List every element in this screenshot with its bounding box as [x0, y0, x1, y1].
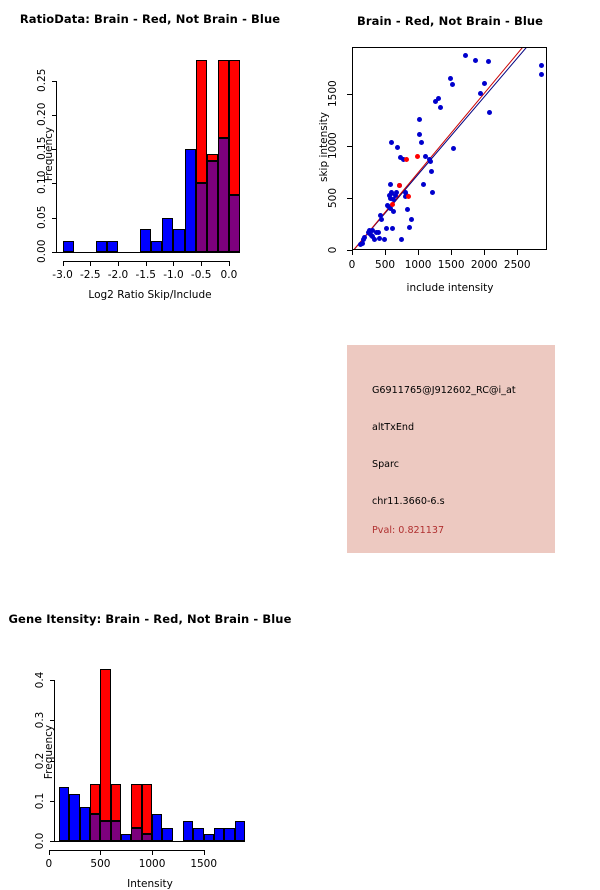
- y-axis-tick-label: 0.20: [35, 104, 49, 126]
- scatter-point-blue: [463, 53, 468, 58]
- scatter-point-blue: [384, 226, 389, 231]
- histogram-bar-blue: [162, 828, 172, 841]
- scatter-point-blue: [539, 72, 544, 77]
- gene-info-probe-id: G6911765@J912602_RC@i_at: [372, 385, 516, 396]
- x-axis-tick-label: 1500: [190, 858, 217, 870]
- x-axis-tick: [204, 850, 205, 855]
- x-axis-tick-label: 0: [349, 259, 356, 271]
- scatter-point-blue: [487, 110, 492, 115]
- scatter-point-blue: [438, 105, 443, 110]
- intensity-scatter-title: Brain - Red, Not Brain - Blue: [300, 14, 600, 28]
- scatter-clip: [353, 48, 546, 249]
- x-axis-tick: [517, 250, 518, 255]
- scatter-point-blue: [482, 81, 487, 86]
- x-axis-tick: [484, 250, 485, 255]
- x-axis-tick-label: 2500: [504, 259, 531, 271]
- y-axis-tick-label: 0.25: [35, 70, 49, 92]
- scatter-point-blue: [405, 207, 410, 212]
- scatter-point-red: [397, 183, 402, 188]
- scatter-point-red: [404, 157, 409, 162]
- scatter-point-blue: [382, 237, 387, 242]
- intensity-scatter-plot-area: [352, 47, 547, 250]
- x-axis-tick-label: 0.0: [221, 269, 238, 281]
- intensity-scatter-x-axis-label: include intensity: [300, 282, 600, 294]
- scatter-point-blue: [388, 182, 393, 187]
- histogram-bar-overlap: [196, 183, 207, 252]
- y-axis-tick-label: 0.3: [33, 709, 47, 731]
- histogram-bar-blue: [224, 828, 234, 841]
- x-axis-tick: [418, 250, 419, 255]
- scatter-point-blue: [417, 132, 422, 137]
- histogram-bar-overlap: [111, 821, 121, 841]
- histogram-bar-blue: [151, 241, 162, 252]
- x-axis-tick-label: 500: [375, 259, 395, 271]
- x-axis-tick: [173, 261, 174, 266]
- gene-intensity-histogram-x-axis-label: Intensity: [0, 878, 300, 890]
- scatter-point-blue: [372, 237, 377, 242]
- y-axis-tick: [50, 801, 55, 802]
- gene-info-pval: Pval: 0.821137: [372, 525, 444, 536]
- histogram-bar-blue: [152, 814, 162, 841]
- histogram-bar-overlap: [207, 161, 218, 252]
- x-axis-tick: [90, 261, 91, 266]
- scatter-point-blue: [395, 145, 400, 150]
- histogram-bar-blue: [185, 149, 196, 252]
- x-axis-tick-label: 2000: [471, 259, 498, 271]
- histogram-bar-blue: [204, 834, 214, 841]
- x-axis-tick-label: -3.0: [52, 269, 73, 281]
- y-axis-tick-label: 0.0: [33, 830, 47, 852]
- scatter-point-blue: [389, 140, 394, 145]
- histogram-bar-overlap: [142, 834, 152, 841]
- scatter-point-blue: [539, 63, 544, 68]
- scatter-point-blue: [407, 225, 412, 230]
- histogram-bar-blue: [140, 229, 151, 252]
- histogram-bar-overlap: [100, 821, 110, 841]
- scatter-point-blue: [430, 190, 435, 195]
- histogram-bar-blue: [173, 229, 184, 252]
- x-axis-tick: [385, 250, 386, 255]
- plot-baseline: [57, 252, 240, 253]
- y-axis-tick: [52, 115, 57, 116]
- scatter-point-blue: [391, 209, 396, 214]
- x-axis-tick-label: 1500: [438, 259, 465, 271]
- x-axis-tick: [352, 250, 353, 255]
- histogram-bar-red: [196, 60, 207, 183]
- histogram-bar-blue: [96, 241, 107, 252]
- x-axis-line: [49, 850, 204, 851]
- x-axis-tick: [152, 850, 153, 855]
- histogram-bar-overlap: [90, 814, 100, 841]
- panel-ratio-histogram: RatioData: Brain - Red, Not Brain - Blue…: [0, 0, 300, 300]
- y-axis-tick-label: 1000: [326, 133, 340, 159]
- x-axis-tick-label: -2.5: [80, 269, 101, 281]
- x-axis-tick-label: 500: [90, 858, 110, 870]
- x-axis-tick: [100, 850, 101, 855]
- scatter-point-blue: [450, 82, 455, 87]
- scatter-point-blue: [362, 235, 367, 240]
- x-axis-tick-label: -1.5: [135, 269, 156, 281]
- y-axis-tick-label: 500: [326, 185, 340, 211]
- panel-gene-intensity-histogram: Gene Itensity: Brain - Red, Not Brain - …: [0, 300, 300, 600]
- panel-intensity-scatter: Brain - Red, Not Brain - Blue skip inten…: [300, 0, 600, 300]
- scatter-point-blue: [428, 159, 433, 164]
- scatter-point-blue: [419, 140, 424, 145]
- x-axis-tick-label: 1000: [405, 259, 432, 271]
- histogram-bar-blue: [121, 834, 131, 841]
- gene-info-panel: G6911765@J912602_RC@i_at altTxEnd Sparc …: [347, 345, 555, 553]
- y-axis-tick-label: 0: [326, 237, 340, 263]
- y-axis-tick-label: 0.1: [33, 790, 47, 812]
- x-axis-tick: [229, 261, 230, 266]
- gene-intensity-histogram-plot-area: [55, 666, 245, 841]
- x-axis-tick-label: -0.5: [191, 269, 212, 281]
- y-axis-tick: [347, 198, 352, 199]
- scatter-point-blue: [486, 59, 491, 64]
- histogram-bar-blue: [59, 787, 69, 841]
- histogram-bar-red: [90, 784, 100, 815]
- scatter-point-blue: [451, 146, 456, 151]
- y-axis-tick-label: 0.15: [35, 138, 49, 160]
- scatter-point-red: [406, 194, 411, 199]
- scatter-point-blue: [473, 58, 478, 63]
- histogram-bar-red: [100, 669, 110, 821]
- scatter-point-red: [390, 202, 395, 207]
- scatter-point-blue: [379, 217, 384, 222]
- x-axis-tick-label: -2.0: [108, 269, 129, 281]
- histogram-bar-red: [229, 60, 240, 195]
- scatter-plot-frame: [352, 47, 547, 250]
- y-axis-tick-label: 0.4: [33, 669, 47, 691]
- x-axis-tick: [146, 261, 147, 266]
- y-axis-tick-label: 0.05: [35, 207, 49, 229]
- histogram-bar-red: [142, 784, 152, 835]
- scatter-point-blue: [390, 226, 395, 231]
- histogram-bar-overlap: [131, 828, 141, 841]
- histogram-bar-blue: [193, 828, 203, 841]
- y-axis-tick: [52, 81, 57, 82]
- x-axis-tick: [201, 261, 202, 266]
- gene-intensity-histogram-title: Gene Itensity: Brain - Red, Not Brain - …: [0, 612, 300, 626]
- scatter-point-blue: [436, 96, 441, 101]
- histogram-bar-blue: [235, 821, 245, 841]
- histogram-bar-red: [207, 154, 218, 161]
- histogram-bar-blue: [63, 241, 74, 252]
- scatter-point-blue: [448, 76, 453, 81]
- histogram-bar-blue: [183, 821, 193, 841]
- x-axis-tick: [118, 261, 119, 266]
- gene-info-gene-symbol: Sparc: [372, 459, 399, 470]
- histogram-bar-red: [111, 784, 121, 821]
- histogram-bar-blue: [162, 218, 173, 252]
- y-axis-tick-label: 0.00: [35, 241, 49, 263]
- x-axis-tick-label: 1000: [139, 858, 166, 870]
- scatter-point-blue: [399, 237, 404, 242]
- x-axis-tick: [63, 261, 64, 266]
- plot-baseline: [55, 841, 245, 842]
- x-axis-tick-label: -1.0: [163, 269, 184, 281]
- x-axis-tick-label: 0: [45, 858, 52, 870]
- y-axis-line: [56, 81, 57, 252]
- histogram-bar-blue: [80, 807, 90, 841]
- figure-canvas: RatioData: Brain - Red, Not Brain - Blue…: [0, 0, 600, 600]
- histogram-bar-red: [218, 60, 229, 138]
- ratio-histogram-title: RatioData: Brain - Red, Not Brain - Blue: [0, 12, 300, 26]
- y-axis-tick-label: 1500: [326, 81, 340, 107]
- histogram-bar-overlap: [229, 195, 240, 252]
- histogram-bar-blue: [107, 241, 118, 252]
- scatter-point-blue: [429, 169, 434, 174]
- scatter-point-blue: [409, 217, 414, 222]
- histogram-bar-blue: [214, 828, 224, 841]
- y-axis-tick: [50, 680, 55, 681]
- y-axis-tick: [52, 218, 57, 219]
- ratio-histogram-plot-area: [57, 60, 240, 252]
- scatter-point-blue: [376, 230, 381, 235]
- scatter-point-blue: [417, 117, 422, 122]
- histogram-bar-red: [131, 784, 141, 828]
- y-axis-tick-label: 0.2: [33, 750, 47, 772]
- x-axis-tick: [451, 250, 452, 255]
- scatter-point-red: [415, 154, 420, 159]
- y-axis-tick-label: 0.10: [35, 172, 49, 194]
- gene-info-event-type: altTxEnd: [372, 422, 414, 433]
- scatter-point-blue: [421, 182, 426, 187]
- x-axis-tick: [49, 850, 50, 855]
- y-axis-tick: [347, 146, 352, 147]
- histogram-bar-overlap: [218, 138, 229, 252]
- y-axis-tick: [347, 94, 352, 95]
- gene-info-locus: chr11.3660-6.s: [372, 496, 445, 507]
- histogram-bar-blue: [69, 794, 79, 841]
